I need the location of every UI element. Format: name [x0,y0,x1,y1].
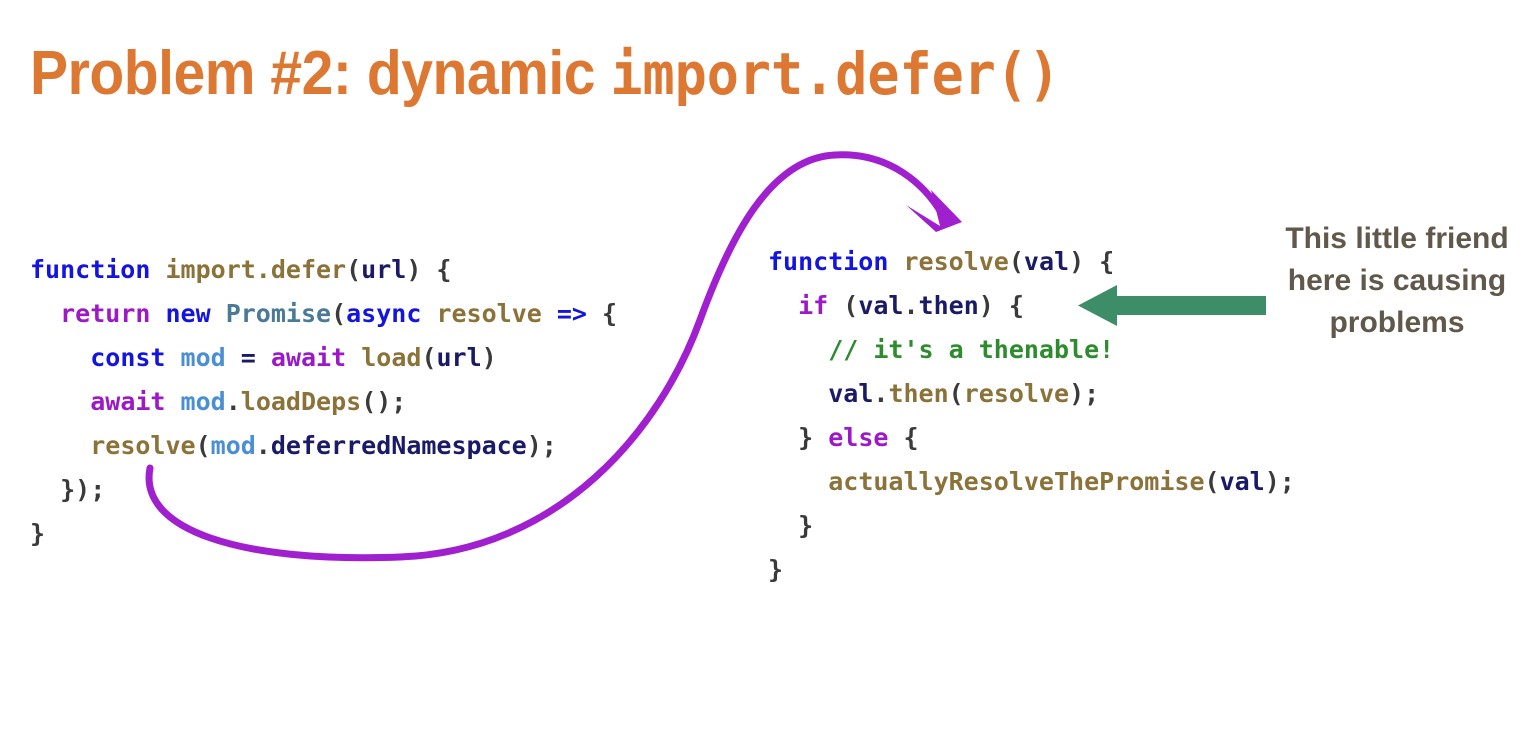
code-line: return new Promise(async resolve => { [30,292,617,336]
code-line: resolve(mod.deferredNamespace); [30,424,617,468]
code-token [165,387,180,416]
code-token: ( [196,431,211,460]
code-token [256,343,271,372]
code-line: } [768,548,1295,592]
code-token: else [828,423,888,452]
code-token: mod [181,387,226,416]
code-token: if [798,291,828,320]
code-token: then [919,291,979,320]
code-token: val [1024,247,1069,276]
code-token: load [361,343,421,372]
code-token: (); [361,387,406,416]
code-token [346,343,361,372]
page-title-code: import.defer() [610,40,1060,108]
code-token: } [768,423,828,452]
code-line: } else { [768,416,1295,460]
code-line: } [30,512,617,556]
code-token [211,299,226,328]
code-token [226,343,241,372]
code-line: function import.defer(url) { [30,248,617,292]
code-line: const mod = await load(url) [30,336,617,380]
code-token: resolve [90,431,195,460]
code-line: function resolve(val) { [768,240,1295,284]
code-token: resolve [903,247,1008,276]
code-token: new [165,299,210,328]
code-line: } [768,504,1295,548]
code-token: const [90,343,165,372]
code-token: ( [421,343,436,372]
code-token: . [226,387,241,416]
code-token: url [437,343,482,372]
callout-annotation: This little friend here is causing probl… [1272,218,1522,344]
code-token: . [873,379,888,408]
code-token: function [30,255,150,284]
code-token: ( [346,255,361,284]
code-token: ); [527,431,557,460]
code-token [888,247,903,276]
code-token: . [903,291,918,320]
code-token: await [90,387,165,416]
code-token: ( [1009,247,1024,276]
code-token: val [858,291,903,320]
code-line: val.then(resolve); [768,372,1295,416]
code-line: }); [30,468,617,512]
code-token [768,467,828,496]
code-token: } [30,519,45,548]
code-token [30,299,60,328]
code-token [150,299,165,328]
code-token: import.defer [165,255,346,284]
code-token: function [768,247,888,276]
code-token: await [271,343,346,372]
code-token: ) [482,343,497,372]
code-line: if (val.then) { [768,284,1295,328]
page-title-plain: Problem #2: dynamic [30,39,610,108]
code-token: deferredNamespace [271,431,527,460]
code-token [768,379,828,408]
code-token: // it's a thenable! [828,335,1114,364]
code-token: async [346,299,421,328]
code-token: ); [1265,467,1295,496]
code-token: }); [30,475,105,504]
code-token [150,255,165,284]
code-token: . [256,431,271,460]
code-line: actuallyResolveThePromise(val); [768,460,1295,504]
code-token: ( [1205,467,1220,496]
code-token [421,299,436,328]
page-title: Problem #2: dynamic import.defer() [30,38,1060,110]
code-token: actuallyResolveThePromise [828,467,1204,496]
code-token: val [828,379,873,408]
code-token [30,387,90,416]
code-token: ) { [406,255,451,284]
code-token: mod [181,343,226,372]
code-token [542,299,557,328]
code-token: } [768,511,813,540]
code-line: // it's a thenable! [768,328,1295,372]
code-token: then [888,379,948,408]
code-token [768,335,828,364]
code-token [30,431,90,460]
code-token: ( [949,379,964,408]
code-block-import-defer: function import.defer(url) { return new … [30,248,617,556]
code-token: ( [828,291,858,320]
code-token: ); [1069,379,1099,408]
code-token: loadDeps [241,387,361,416]
code-token: resolve [964,379,1069,408]
code-token: resolve [436,299,541,328]
code-token: { [587,299,617,328]
code-token: } [768,555,783,584]
code-token: ( [331,299,346,328]
code-token: val [1220,467,1265,496]
code-token: Promise [226,299,331,328]
code-token: url [361,255,406,284]
code-block-resolve: function resolve(val) { if (val.then) { … [768,240,1295,592]
code-token: => [557,299,587,328]
code-token: return [60,299,150,328]
code-token: ) { [1069,247,1114,276]
code-token [768,291,798,320]
code-token [30,343,90,372]
code-token: { [888,423,918,452]
code-token [165,343,180,372]
code-token: mod [211,431,256,460]
code-token: ) { [979,291,1024,320]
code-line: await mod.loadDeps(); [30,380,617,424]
code-token: = [241,343,256,372]
